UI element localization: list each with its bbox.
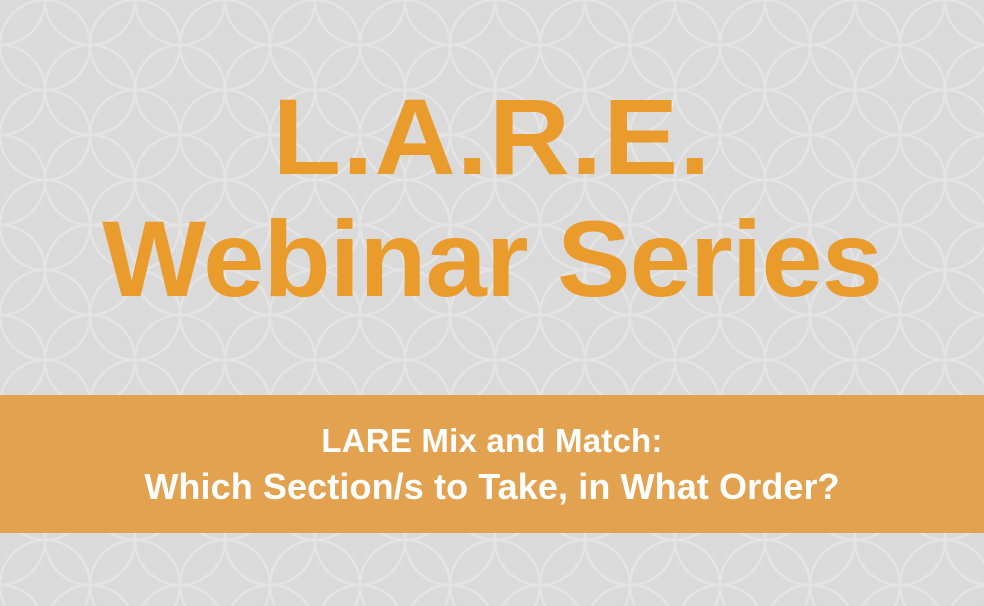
subtitle-line-1: LARE Mix and Match:: [0, 423, 984, 459]
page-title-line-2: Webinar Series: [0, 205, 984, 313]
footer-strip: [0, 533, 984, 606]
hero-title-block: L.A.R.E. Webinar Series: [0, 0, 984, 395]
subtitle-line-2: Which Section/s to Take, in What Order?: [0, 468, 984, 507]
subtitle-banner: LARE Mix and Match: Which Section/s to T…: [0, 395, 984, 533]
page-title-line-1: L.A.R.E.: [0, 83, 984, 191]
webinar-title-slide: L.A.R.E. Webinar Series LARE Mix and Mat…: [0, 0, 984, 606]
